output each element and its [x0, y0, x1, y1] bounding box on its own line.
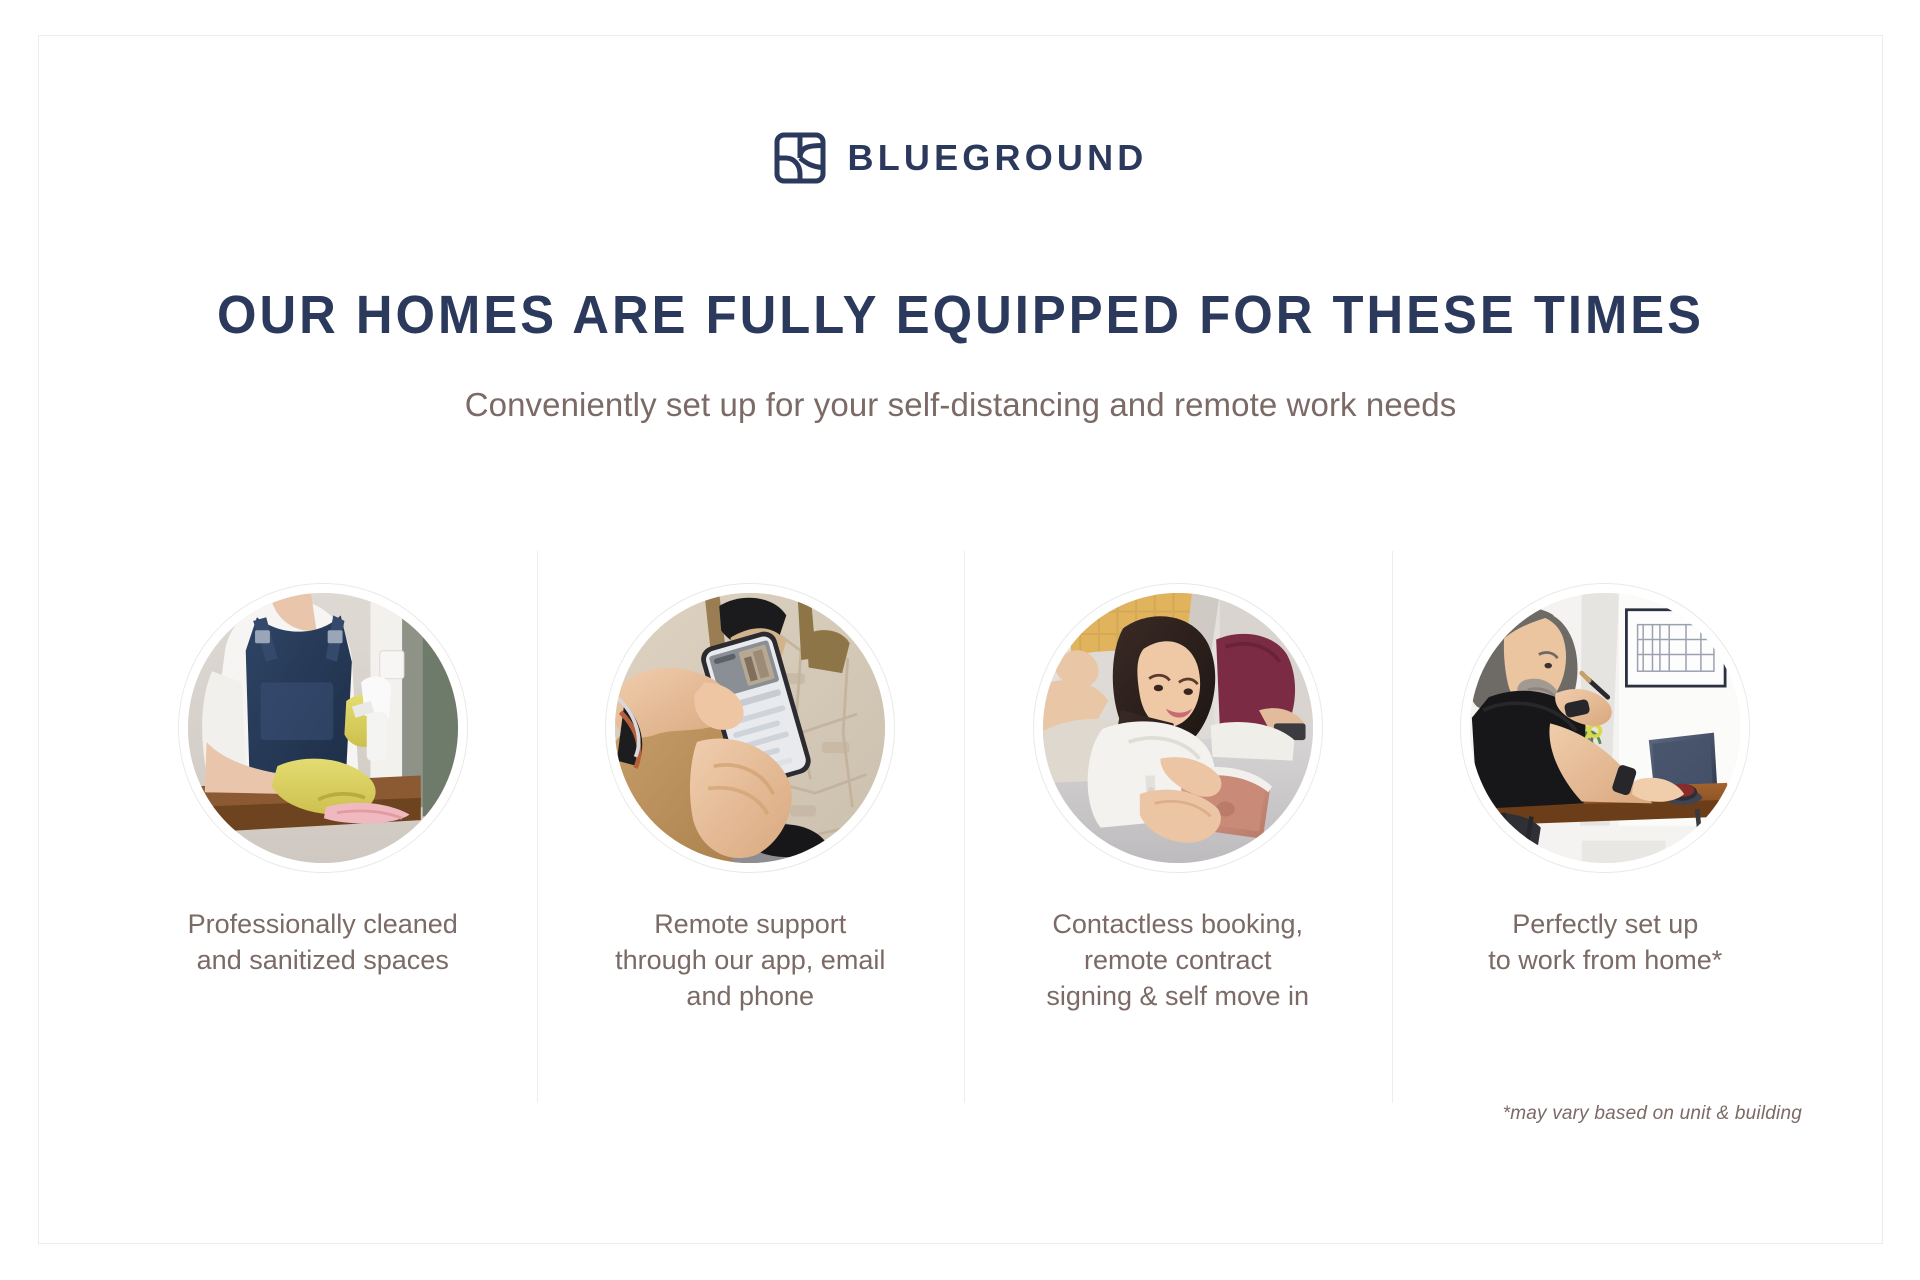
caption-line: Remote support [615, 907, 885, 943]
caption-line: remote contract [1046, 943, 1309, 979]
caption-line: signing & self move in [1046, 979, 1309, 1015]
tablet-booking-photo [1043, 593, 1313, 863]
work-from-home-photo [1470, 593, 1740, 863]
page-title: OUR HOMES ARE FULLY EQUIPPED FOR THESE T… [94, 284, 1826, 346]
photo-ring [1033, 583, 1323, 873]
photo-ring [605, 583, 895, 873]
feature-column-contactless: Contactless booking, remote contract sig… [964, 551, 1392, 1103]
phone-support-photo [615, 593, 885, 863]
photo-ring [1460, 583, 1750, 873]
feature-caption: Professionally cleaned and sanitized spa… [188, 907, 458, 979]
cleaning-photo [188, 593, 458, 863]
caption-line: and phone [615, 979, 885, 1015]
feature-column-work-from-home: Perfectly set up to work from home* [1392, 551, 1820, 1103]
brand-lockup: BLUEGROUND [39, 132, 1882, 184]
blueground-square-mark-icon [774, 132, 826, 184]
content-card: BLUEGROUND OUR HOMES ARE FULLY EQUIPPED … [38, 35, 1883, 1244]
caption-line: and sanitized spaces [188, 943, 458, 979]
feature-column-cleaning: Professionally cleaned and sanitized spa… [109, 551, 537, 1103]
caption-line: Professionally cleaned [188, 907, 458, 943]
feature-caption: Remote support through our app, email an… [615, 907, 885, 1015]
feature-column-remote-support: Remote support through our app, email an… [537, 551, 965, 1103]
feature-row: Professionally cleaned and sanitized spa… [109, 551, 1819, 1103]
poster-page: BLUEGROUND OUR HOMES ARE FULLY EQUIPPED … [0, 0, 1920, 1280]
page-subtitle: Conveniently set up for your self-distan… [39, 386, 1882, 424]
footnote: *may vary based on unit & building [1503, 1103, 1802, 1125]
caption-line: through our app, email [615, 943, 885, 979]
caption-line: Contactless booking, [1046, 907, 1309, 943]
caption-line: Perfectly set up [1488, 907, 1722, 943]
feature-caption: Perfectly set up to work from home* [1488, 907, 1722, 979]
photo-ring [178, 583, 468, 873]
caption-line: to work from home* [1488, 943, 1722, 979]
brand-wordmark: BLUEGROUND [848, 140, 1148, 176]
feature-caption: Contactless booking, remote contract sig… [1046, 907, 1309, 1015]
